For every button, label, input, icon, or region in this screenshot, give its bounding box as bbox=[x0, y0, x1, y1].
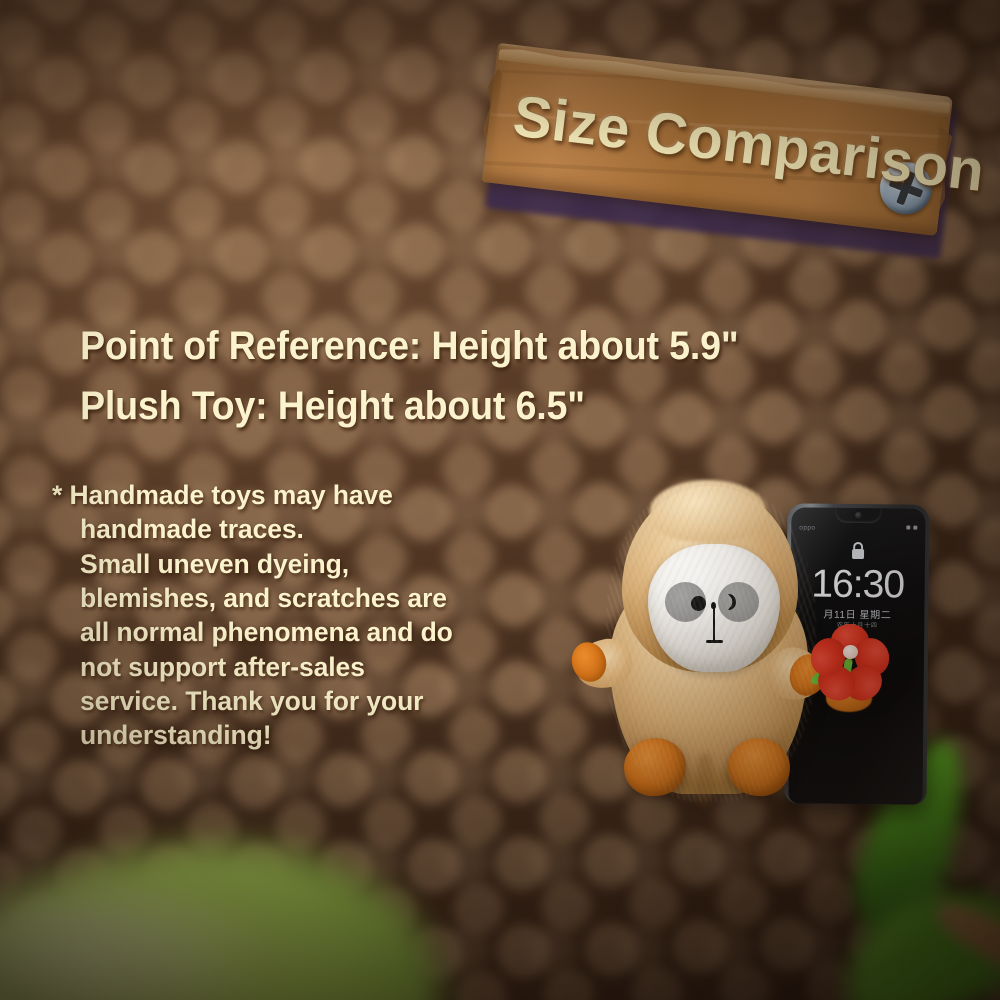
size-comparison-infographic: Size Comparison Point of Reference: Heig… bbox=[0, 0, 1000, 1000]
background-vignette bbox=[0, 0, 1000, 1000]
